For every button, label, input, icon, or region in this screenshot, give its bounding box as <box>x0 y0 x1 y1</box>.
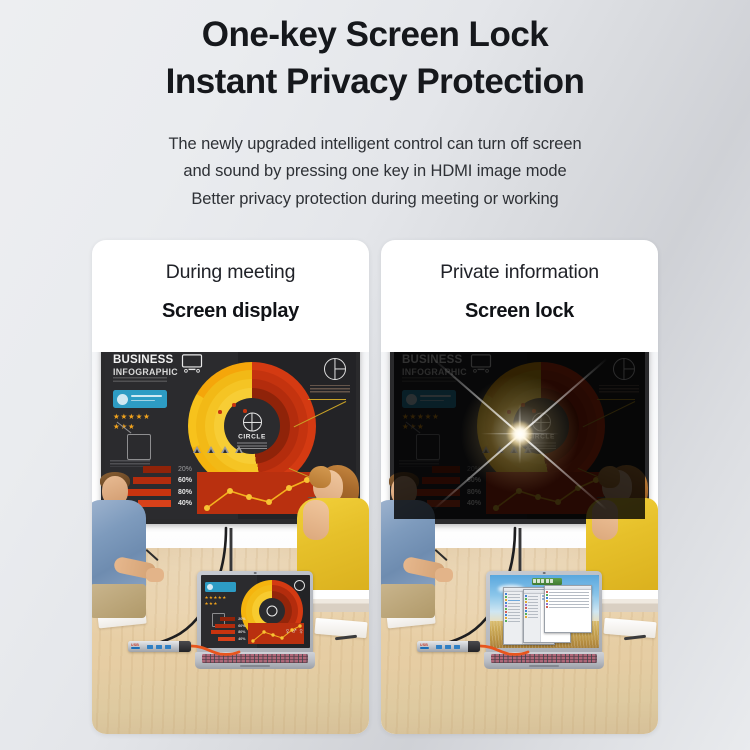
card-kicker-private-information: Private information <box>381 240 658 284</box>
nav-item <box>505 605 520 607</box>
nav-item <box>505 594 520 596</box>
usb-c-hub: USB <box>128 641 191 652</box>
laptop-lid <box>486 571 602 653</box>
triangle-marker-row <box>193 446 243 453</box>
man-shirt <box>92 500 146 592</box>
explorer-window-3[interactable] <box>544 585 592 633</box>
laptop-keyboard[interactable] <box>491 654 597 663</box>
bar-fill <box>143 466 171 473</box>
file-row <box>546 603 589 605</box>
globe-icon <box>243 413 262 432</box>
nav-item <box>525 598 538 600</box>
triangle-marker-1 <box>193 446 201 453</box>
taskbar-item-1[interactable] <box>533 579 536 583</box>
laptop-bar-label: 40% <box>237 637 246 641</box>
page-title-line-2: Instant Privacy Protection <box>0 59 750 106</box>
pie-chart-icon <box>324 358 346 380</box>
triangle-marker-3 <box>221 446 229 453</box>
bar-row: 20% <box>117 465 192 474</box>
laptop-percent-bars: 20% 60% 80% 40% <box>206 617 246 643</box>
page-subtitle: The newly upgraded intelligent control c… <box>0 131 750 213</box>
window-content-pane[interactable] <box>545 590 591 632</box>
laptop-bar-label: 80% <box>237 630 246 634</box>
comparison-cards: During meeting Screen display <box>92 240 658 734</box>
nav-item <box>505 602 520 604</box>
infographic-subtitle-lines <box>113 377 167 384</box>
nav-item <box>505 599 520 601</box>
file-row <box>546 600 589 602</box>
hub-port-3[interactable] <box>454 645 460 649</box>
webcam-icon <box>254 572 257 575</box>
page-title-line-1: One-key Screen Lock <box>0 12 750 59</box>
subtitle-line-2: and sound by pressing one key in HDMI im… <box>0 158 750 185</box>
desktop-taskbar-group[interactable] <box>532 578 562 585</box>
man-shorts <box>92 584 146 618</box>
window-nav-pane[interactable] <box>504 592 523 644</box>
badge-line-2 <box>131 400 155 402</box>
bar-label: 60% <box>174 477 192 484</box>
card-screen-lock: Private information Screen lock <box>381 240 658 734</box>
laptop-screen: ★★★★★ ★★★ <box>201 575 310 649</box>
man-hand <box>146 568 164 582</box>
meeting-scene-locked: BUSINESS INFOGRAPHIC <box>381 352 658 734</box>
nav-item <box>505 608 520 610</box>
laptop-globe-icon <box>266 605 277 616</box>
taskbar-item-2[interactable] <box>537 579 540 583</box>
bar-label: 80% <box>174 489 192 496</box>
laptop-keyboard[interactable] <box>202 654 308 663</box>
nav-item <box>525 616 538 618</box>
nav-item <box>505 611 520 613</box>
hub-connector-tip <box>179 641 191 652</box>
laptop-unlocked: ★★★★★ ★★★ <box>195 571 315 691</box>
taskbar-item-5[interactable] <box>550 579 553 583</box>
laptop-screen <box>490 575 599 649</box>
screen-lock-dim-overlay <box>394 352 645 519</box>
laptop-stars-row-2: ★★★ <box>205 601 227 607</box>
subtitle-line-3: Better privacy protection during meeting… <box>0 186 750 213</box>
nav-item <box>525 596 538 598</box>
hub-indicator <box>131 647 140 649</box>
person-standing-man <box>92 476 148 626</box>
hub-connector-tip <box>468 641 480 652</box>
woman-hair-front <box>309 466 331 488</box>
card-kicker-during-meeting: During meeting <box>92 240 369 284</box>
nav-item <box>525 610 538 612</box>
nav-item <box>505 617 520 619</box>
smartphone-icon <box>127 434 151 460</box>
hub-indicator <box>420 647 429 649</box>
hub-port-1[interactable] <box>147 645 153 649</box>
laptop-trackpad[interactable] <box>240 665 270 668</box>
page-header: One-key Screen Lock Instant Privacy Prot… <box>0 0 750 213</box>
nav-item <box>505 596 520 598</box>
avatar-icon <box>117 394 128 405</box>
hub-port-1[interactable] <box>436 645 442 649</box>
tv-screen-content-locked: BUSINESS INFOGRAPHIC <box>394 352 645 519</box>
taskbar-item-4[interactable] <box>546 579 549 583</box>
window-nav-pane[interactable] <box>524 594 541 642</box>
card-screen-display: During meeting Screen display <box>92 240 369 734</box>
laptop-lid: ★★★★★ ★★★ <box>197 571 313 653</box>
triangle-marker-2 <box>207 446 215 453</box>
hub-port-2[interactable] <box>445 645 451 649</box>
laptop-trackpad[interactable] <box>529 665 559 668</box>
top-right-caption-lines <box>310 385 350 394</box>
card-heading-screen-display: Screen display <box>92 284 369 323</box>
triangle-marker-4 <box>235 446 243 453</box>
laptop-avatar-icon <box>207 584 213 590</box>
bar-label: 20% <box>174 466 192 473</box>
nav-item <box>505 620 520 622</box>
meeting-scene-unlocked: BUSINESS INFOGRAPHIC <box>92 352 369 734</box>
tv-display-locked: BUSINESS INFOGRAPHIC <box>390 352 649 524</box>
laptop-stars-row-1: ★★★★★ <box>205 595 227 601</box>
laptop-bar-label: 20% <box>237 617 246 621</box>
badge-line-1 <box>131 395 162 397</box>
bar-label: 40% <box>174 500 192 507</box>
laptop-base <box>484 652 604 669</box>
laptop-infographic: ★★★★★ ★★★ <box>201 575 310 649</box>
laptop-bar-row: 40% <box>206 636 246 641</box>
infographic-title-line-2: INFOGRAPHIC <box>113 368 178 377</box>
nav-item <box>505 614 520 616</box>
laptop-bar-label: 60% <box>237 624 246 628</box>
webcam-icon <box>543 572 546 575</box>
file-row <box>546 597 589 599</box>
subtitle-line-1: The newly upgraded intelligent control c… <box>0 131 750 158</box>
windows-desktop <box>490 575 599 649</box>
taskbar-item-3[interactable] <box>541 579 544 583</box>
hub-port-2[interactable] <box>156 645 162 649</box>
man-shorts <box>381 584 435 618</box>
nav-item <box>525 604 538 606</box>
infographic-user-badge <box>113 390 167 408</box>
infographic-locked: BUSINESS INFOGRAPHIC <box>394 352 645 519</box>
laptop-bar-row: 80% <box>206 630 246 635</box>
stars-row-1: ★★★★★ <box>113 412 151 422</box>
laptop-base <box>195 652 315 669</box>
file-row <box>546 606 589 608</box>
infographic-title-line-1: BUSINESS <box>113 354 173 366</box>
woman-shoulder <box>303 500 329 540</box>
laptop-pie-chart-icon <box>294 580 305 591</box>
usb-c-hub: USB <box>417 641 480 652</box>
hub-brand-label: USB <box>420 643 428 647</box>
nav-item <box>525 601 538 603</box>
nav-item <box>525 613 538 615</box>
infographic-title: BUSINESS INFOGRAPHIC <box>113 355 178 376</box>
leader-line-top-stub <box>308 399 346 400</box>
hub-brand-label: USB <box>131 643 139 647</box>
laptop-locked <box>484 571 604 691</box>
card-heading-screen-lock: Screen lock <box>381 284 658 323</box>
window-body <box>545 590 591 632</box>
laptop-rating-stars: ★★★★★ ★★★ <box>205 595 227 607</box>
nav-item <box>525 607 538 609</box>
file-row <box>546 594 589 596</box>
hub-port-3[interactable] <box>165 645 171 649</box>
donut-dot-1 <box>218 410 222 414</box>
laptop-people-icon: ♀♂♀ <box>284 627 304 636</box>
man-hand <box>435 568 453 582</box>
donut-center-title: CIRCLE <box>237 434 267 441</box>
laptop-bar-row: 60% <box>206 623 246 628</box>
laptop-user-badge <box>205 582 236 592</box>
laptop-bar-row: 20% <box>206 617 246 622</box>
donut-dot-2 <box>232 403 236 407</box>
file-row <box>546 592 589 594</box>
donut-center-label: CIRCLE <box>237 413 267 450</box>
